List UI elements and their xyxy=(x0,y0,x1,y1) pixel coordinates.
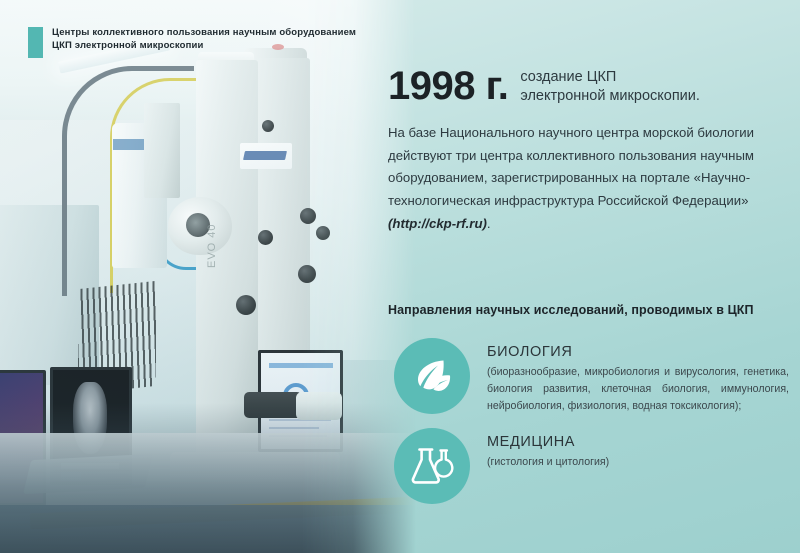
topic-biology-name: БИОЛОГИЯ xyxy=(487,344,789,360)
topic-medicine-name: МЕДИЦИНА xyxy=(487,434,789,450)
header-accent-mark xyxy=(28,27,43,58)
research-section-title: Направления научных исследований, провод… xyxy=(388,303,754,317)
content-column: 1998 г. создание ЦКПэлектронной микроско… xyxy=(388,0,800,553)
intro-paragraph-text: На базе Национального научного центра мо… xyxy=(388,125,754,208)
topic-biology: БИОЛОГИЯ (биоразнообразие, микробиология… xyxy=(394,338,789,415)
hero-year-row: 1998 г. создание ЦКПэлектронной микроско… xyxy=(388,66,700,106)
header-line-1: Центры коллективного пользования научным… xyxy=(52,26,356,39)
intro-paragraph: На базе Национального научного центра мо… xyxy=(388,122,792,236)
topic-biology-description: (биоразнообразие, микробиология и вирусо… xyxy=(487,364,789,415)
topic-biology-body: БИОЛОГИЯ (биоразнообразие, микробиология… xyxy=(487,338,789,415)
flasks-icon-badge xyxy=(394,428,470,504)
ckp-portal-link[interactable]: (http://ckp-rf.ru) xyxy=(388,216,487,231)
header-badge: Центры коллективного пользования научным… xyxy=(28,26,356,58)
intro-paragraph-tail: . xyxy=(487,216,491,231)
topic-medicine-body: МЕДИЦИНА (гистология и цитология) xyxy=(487,428,789,471)
flasks-icon xyxy=(409,443,455,489)
header-title-block: Центры коллективного пользования научным… xyxy=(52,26,356,53)
topic-medicine-description: (гистология и цитология) xyxy=(487,454,789,471)
microscope-lab-photo: EVO 40 xyxy=(0,0,420,553)
hero-caption: создание ЦКПэлектронной микроскопии. xyxy=(520,66,700,105)
topic-medicine: МЕДИЦИНА (гистология и цитология) xyxy=(394,428,789,504)
leaves-icon-badge xyxy=(394,338,470,414)
leaves-icon xyxy=(410,354,454,398)
photo-color-overlay xyxy=(0,0,420,553)
hero-year: 1998 г. xyxy=(388,66,508,106)
header-line-2: ЦКП электронной микроскопии xyxy=(52,39,356,52)
poster-page: EVO 40 xyxy=(0,0,800,553)
